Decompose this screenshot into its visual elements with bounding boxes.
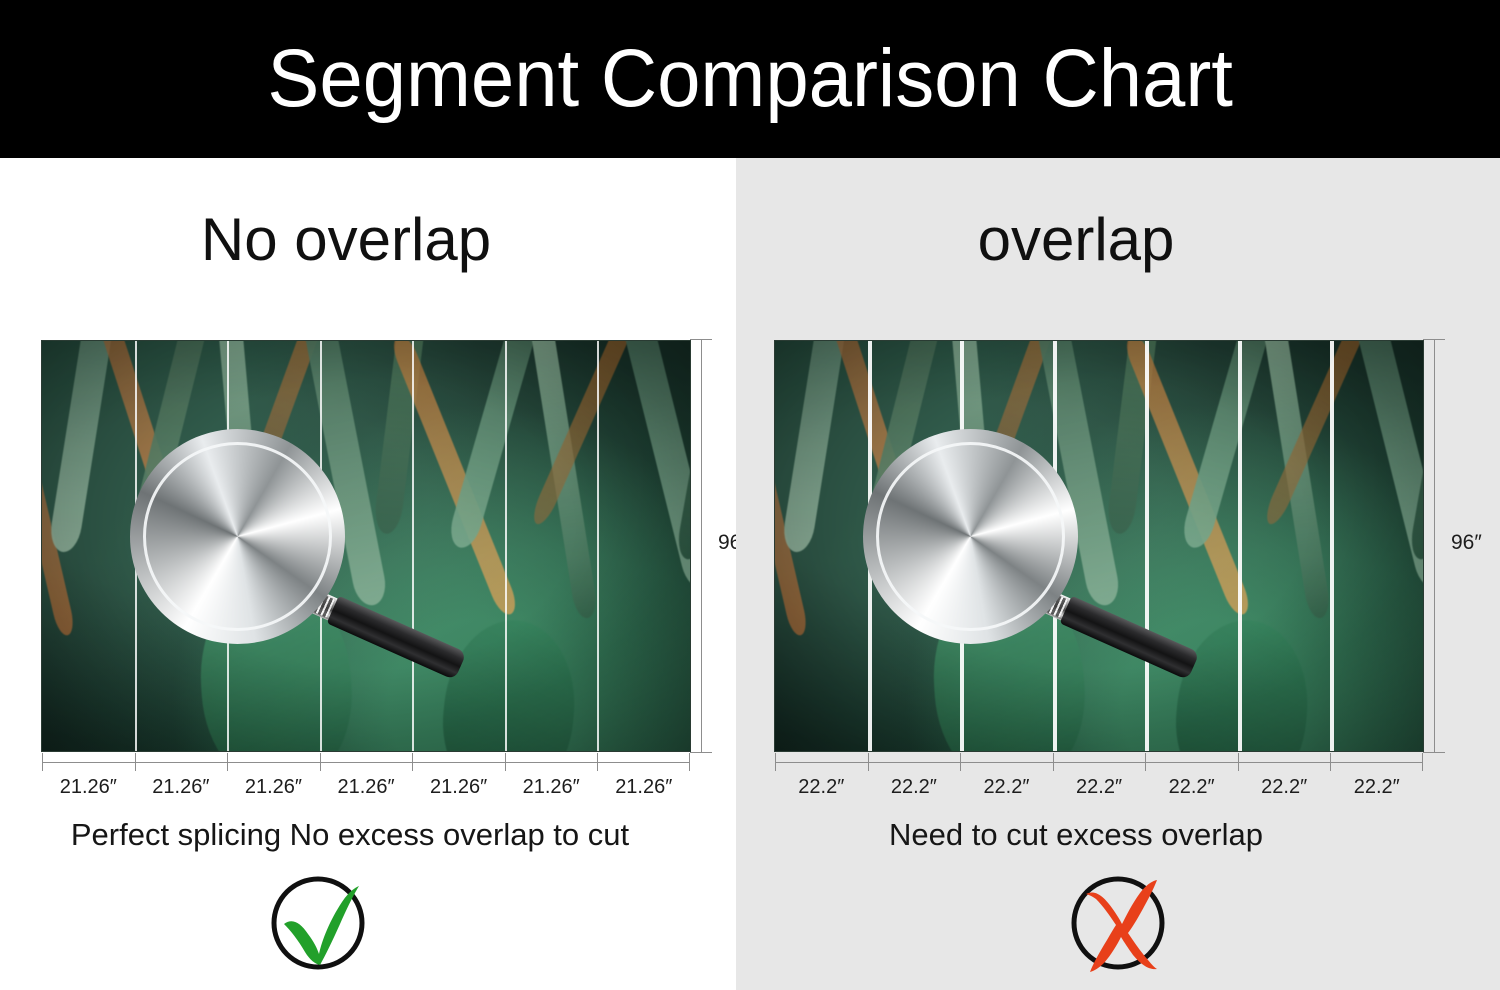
segment-seam-overlap [1238, 341, 1242, 751]
segment-seam [135, 341, 137, 751]
segment-label: 22.2″ [1238, 772, 1331, 802]
segment-label: 21.26″ [227, 772, 320, 802]
segment-seam [227, 341, 229, 751]
panel-no-overlap: No overlap [0, 158, 736, 990]
segment-label: 22.2″ [1053, 772, 1146, 802]
dimension-tick [1145, 753, 1146, 771]
panel-heading-no-overlap: No overlap [0, 210, 714, 270]
dimension-tick [505, 753, 506, 771]
dimension-cap [689, 753, 690, 771]
height-label-right: 96″ [1451, 531, 1482, 555]
segment-label: 22.2″ [775, 772, 868, 802]
caption-overlap: Need to cut excess overlap [694, 818, 1458, 852]
title-bar: Segment Comparison Chart [0, 0, 1500, 158]
segment-comparison-page: Segment Comparison Chart No overlap [0, 0, 1500, 990]
comparison-panels: No overlap [0, 158, 1500, 990]
height-dimension-line-left [690, 339, 712, 753]
segment-seam-overlap [1330, 341, 1334, 751]
segment-label: 21.26″ [412, 772, 505, 802]
wallpaper-mural-image [42, 341, 690, 751]
caption-no-overlap: Perfect splicing No excess overlap to cu… [0, 818, 718, 852]
wallpaper-vignette [42, 341, 690, 751]
dimension-cap [775, 753, 776, 771]
wallpaper-vignette [775, 341, 1423, 751]
dimension-tick [1053, 753, 1054, 771]
segment-labels-right: 22.2″ 22.2″ 22.2″ 22.2″ 22.2″ 22.2″ 22.2… [775, 772, 1423, 802]
dimension-cap [42, 753, 43, 771]
dimension-line [1434, 339, 1435, 753]
cross-mark-icon [1062, 868, 1174, 978]
page-title: Segment Comparison Chart [267, 38, 1233, 120]
artwork-overlap [775, 341, 1423, 751]
segment-seam [320, 341, 322, 751]
panel-overlap: overlap [736, 158, 1500, 990]
segment-seam-overlap [960, 341, 964, 751]
dimension-cap [1423, 752, 1445, 753]
dimension-cap [1422, 753, 1423, 771]
segment-seam [505, 341, 507, 751]
segment-seam [597, 341, 599, 751]
segment-label: 22.2″ [1145, 772, 1238, 802]
dimension-tick [960, 753, 961, 771]
segment-label: 21.26″ [597, 772, 690, 802]
dimension-tick [1330, 753, 1331, 771]
check-mark-icon [262, 868, 374, 978]
dimension-line [775, 762, 1423, 763]
segment-label: 22.2″ [1330, 772, 1423, 802]
dimension-tick [412, 753, 413, 771]
dimension-cap [690, 752, 712, 753]
dimension-tick [227, 753, 228, 771]
segment-seam-overlap [868, 341, 872, 751]
width-dimension-line-right [775, 753, 1423, 771]
dimension-tick [868, 753, 869, 771]
dimension-tick [597, 753, 598, 771]
height-dimension-line-right [1423, 339, 1445, 753]
dimension-line [42, 762, 690, 763]
segment-seam-overlap [1145, 341, 1149, 751]
segment-label: 22.2″ [868, 772, 961, 802]
panel-heading-overlap: overlap [694, 210, 1458, 270]
dimension-line [701, 339, 702, 753]
segment-label: 21.26″ [135, 772, 228, 802]
wallpaper-mural-image [775, 341, 1423, 751]
segment-label: 21.26″ [42, 772, 135, 802]
segment-seam [412, 341, 414, 751]
dimension-tick [135, 753, 136, 771]
artwork-no-overlap [42, 341, 690, 751]
dimension-tick [320, 753, 321, 771]
dimension-tick [1238, 753, 1239, 771]
segment-labels-left: 21.26″ 21.26″ 21.26″ 21.26″ 21.26″ 21.26… [42, 772, 690, 802]
segment-seam-overlap [1053, 341, 1057, 751]
width-dimension-line-left [42, 753, 690, 771]
segment-label: 21.26″ [505, 772, 598, 802]
segment-label: 22.2″ [960, 772, 1053, 802]
segment-label: 21.26″ [320, 772, 413, 802]
